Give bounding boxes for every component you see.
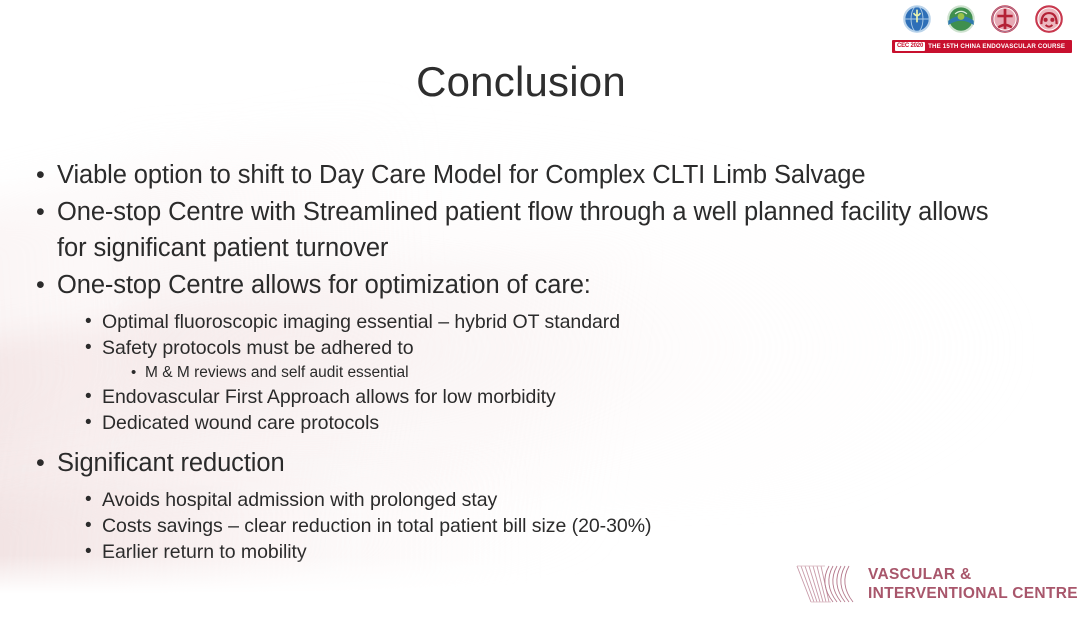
bullet-level2: • Costs savings – clear reduction in tot… xyxy=(85,513,1016,539)
bullet-marker-icon: • xyxy=(36,445,57,481)
bullet-level2: • Dedicated wound care protocols xyxy=(85,410,1016,436)
bullet-marker-icon: • xyxy=(85,384,102,410)
bullet-level2: • Avoids hospital admission with prolong… xyxy=(85,487,1016,513)
bullet-marker-icon: • xyxy=(36,157,57,193)
conference-banner-text: THE 15TH CHINA ENDOVASCULAR COURSE xyxy=(928,40,1065,53)
emblem-blue-globe-icon xyxy=(900,2,934,36)
bullet-text: Viable option to shift to Day Care Model… xyxy=(57,157,1016,193)
bullet-level2: • Optimal fluoroscopic imaging essential… xyxy=(85,309,1016,335)
bullet-marker-icon: • xyxy=(85,335,102,361)
vascular-interventional-centre-logo: VASCULAR & INTERVENTIONAL CENTRE xyxy=(795,562,1078,606)
slide-title: Conclusion xyxy=(0,58,1042,106)
bullet-level2: • Safety protocols must be adhered to xyxy=(85,335,1016,361)
bullet-level1: • Viable option to shift to Day Care Mod… xyxy=(36,157,1016,193)
vic-logo-line1: VASCULAR & xyxy=(868,565,1078,584)
vic-logo-text: VASCULAR & INTERVENTIONAL CENTRE xyxy=(868,565,1078,603)
conference-branding: CEC 2020 THE 15TH CHINA ENDOVASCULAR COU… xyxy=(892,2,1072,53)
vic-logo-line2: INTERVENTIONAL CENTRE xyxy=(868,584,1078,603)
bullet-marker-icon: • xyxy=(85,539,102,565)
bullet-text: One-stop Centre with Streamlined patient… xyxy=(57,194,1016,266)
bullet-marker-icon: • xyxy=(131,361,145,384)
presentation-slide: CEC 2020 THE 15TH CHINA ENDOVASCULAR COU… xyxy=(0,0,1080,625)
conference-banner: CEC 2020 THE 15TH CHINA ENDOVASCULAR COU… xyxy=(892,40,1072,53)
bullet-marker-icon: • xyxy=(85,410,102,436)
bullet-level2: • Endovascular First Approach allows for… xyxy=(85,384,1016,410)
bullet-text: Optimal fluoroscopic imaging essential –… xyxy=(102,309,1016,335)
bullet-level1: • One-stop Centre allows for optimizatio… xyxy=(36,267,1016,303)
bullet-text: Costs savings – clear reduction in total… xyxy=(102,513,1016,539)
bullet-text: Avoids hospital admission with prolonged… xyxy=(102,487,1016,513)
bullet-text: Endovascular First Approach allows for l… xyxy=(102,384,1016,410)
conference-badge: CEC 2020 xyxy=(895,42,925,51)
bullet-text: Safety protocols must be adhered to xyxy=(102,335,1016,361)
spacer xyxy=(36,436,1016,445)
bullet-text: Dedicated wound care protocols xyxy=(102,410,1016,436)
bullet-marker-icon: • xyxy=(36,194,57,230)
conference-emblem-row xyxy=(892,2,1072,36)
vic-weave-mark-icon xyxy=(795,562,857,606)
bullet-text: One-stop Centre allows for optimization … xyxy=(57,267,1016,303)
emblem-red-shield-icon xyxy=(1032,2,1066,36)
bullet-level1: • Significant reduction xyxy=(36,445,1016,481)
bullet-marker-icon: • xyxy=(85,487,102,513)
bullet-text: M & M reviews and self audit essential xyxy=(145,361,1016,384)
bullet-level1: • One-stop Centre with Streamlined patie… xyxy=(36,194,1016,266)
slide-body: • Viable option to shift to Day Care Mod… xyxy=(36,157,1016,565)
emblem-green-globe-icon xyxy=(944,2,978,36)
bullet-marker-icon: • xyxy=(85,513,102,539)
emblem-red-figure-icon xyxy=(988,2,1022,36)
bullet-level3: • M & M reviews and self audit essential xyxy=(131,361,1016,384)
bullet-text: Significant reduction xyxy=(57,445,1016,481)
bullet-marker-icon: • xyxy=(36,267,57,303)
bullet-marker-icon: • xyxy=(85,309,102,335)
